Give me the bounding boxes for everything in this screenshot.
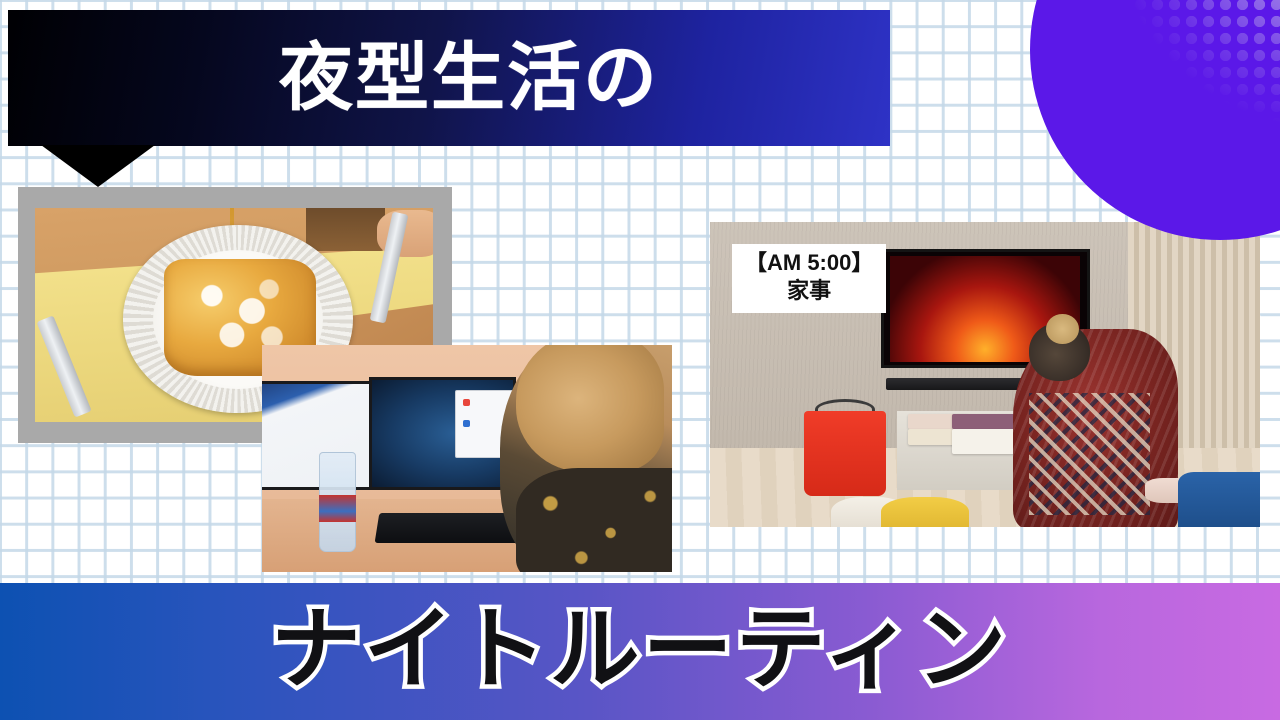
person-shirt	[516, 468, 672, 572]
title-banner: 夜型生活の	[8, 10, 890, 146]
bottom-banner: ナイトルーティン	[0, 583, 1280, 720]
laundry-basket	[804, 411, 887, 496]
syrup-bottle	[306, 208, 386, 251]
screen-icon-blue	[463, 420, 470, 427]
blanket-pattern	[1029, 393, 1150, 515]
desk-work-photo	[262, 345, 672, 572]
halftone-dots-pattern	[1030, 0, 1280, 240]
cushion-yellow	[881, 497, 969, 528]
time-caption: 【AM 5:00】 家事	[732, 244, 886, 313]
person-hair	[516, 345, 664, 472]
water-bottle-label	[319, 495, 356, 522]
corner-badge	[1030, 0, 1280, 240]
hair-bun	[1046, 314, 1079, 345]
title-pointer-triangle-icon	[41, 145, 155, 187]
living-room-housework-photo: 【AM 5:00】 家事	[710, 222, 1260, 527]
cushion-blue	[1178, 472, 1261, 527]
title-text: 夜型生活の	[8, 41, 890, 115]
folded-laundry	[952, 414, 1018, 429]
bottom-banner-title: ナイトルーティン	[0, 605, 1280, 695]
screen-icon-red	[463, 399, 470, 406]
